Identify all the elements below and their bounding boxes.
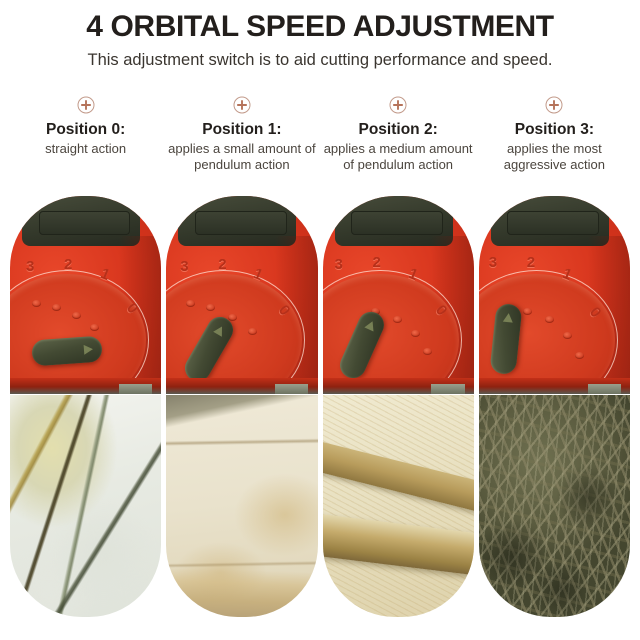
dial-dimple bbox=[423, 348, 432, 355]
jigsaw-body: 3 2 1 0 bbox=[479, 196, 630, 394]
dial-dimple bbox=[575, 352, 584, 359]
plus-circle-icon bbox=[233, 96, 251, 114]
dial-dimple bbox=[52, 304, 61, 311]
plus-circle-icon bbox=[77, 96, 95, 114]
photo-column-3: 3 2 1 0 bbox=[479, 196, 630, 617]
tool-photo-position-1: 3 2 1 0 bbox=[166, 196, 317, 394]
tool-photo-position-2: 3 2 1 0 bbox=[323, 196, 474, 394]
material-photo-position-2 bbox=[323, 395, 474, 617]
page-title: 4 ORBITAL SPEED ADJUSTMENT bbox=[0, 8, 640, 46]
dial-dimple bbox=[90, 324, 99, 331]
dial-dimple bbox=[32, 300, 41, 307]
dial-dimple bbox=[393, 316, 402, 323]
dial-dimple bbox=[411, 330, 420, 337]
dial-numeral-2: 2 bbox=[218, 256, 226, 273]
material-photo-position-0 bbox=[10, 395, 161, 617]
photo-column-2: 3 2 1 0 bbox=[323, 196, 474, 617]
position-column-3: Position 3: applies the most aggressive … bbox=[479, 96, 630, 173]
cream-board-panel-image bbox=[166, 395, 317, 617]
curved-offcut-pieces-image bbox=[10, 395, 161, 617]
photo-column-0: 3 2 1 0 bbox=[10, 196, 161, 617]
material-photo-position-1 bbox=[166, 395, 317, 617]
dial-numeral-2: 2 bbox=[527, 254, 535, 271]
dial-numeral-3: 3 bbox=[180, 258, 188, 275]
position-title: Position 1: bbox=[202, 120, 281, 139]
dial-dimple bbox=[545, 316, 554, 323]
position-description: applies a small amount of pendulum actio… bbox=[166, 141, 317, 173]
position-description: straight action bbox=[45, 141, 126, 157]
jigsaw-baseplate bbox=[10, 378, 161, 394]
jigsaw-baseplate bbox=[323, 378, 474, 394]
dial-numeral-3: 3 bbox=[26, 258, 34, 275]
position-label-row: Position 0: straight action Position 1: … bbox=[10, 96, 630, 173]
page-subtitle: This adjustment switch is to aid cutting… bbox=[0, 48, 640, 72]
dial-dimple bbox=[563, 332, 572, 339]
dial-numeral-2: 2 bbox=[373, 254, 381, 271]
jigsaw-baseplate bbox=[166, 378, 317, 394]
position-title: Position 3: bbox=[515, 120, 594, 139]
position-description: applies the most aggressive action bbox=[479, 141, 630, 173]
jigsaw-body: 3 2 1 0 bbox=[166, 196, 317, 394]
header: 4 ORBITAL SPEED ADJUSTMENT This adjustme… bbox=[0, 0, 640, 72]
position-title: Position 2: bbox=[359, 120, 438, 139]
jigsaw-baseplate bbox=[479, 378, 630, 394]
position-column-2: Position 2: applies a medium amount of p… bbox=[323, 96, 474, 173]
dial-dimple bbox=[523, 308, 532, 315]
pile-of-branches-image bbox=[479, 395, 630, 617]
dial-numeral-3: 3 bbox=[335, 256, 343, 273]
tool-photo-position-0: 3 2 1 0 bbox=[10, 196, 161, 394]
dial-numeral-2: 2 bbox=[64, 256, 72, 273]
dial-numeral-3: 3 bbox=[489, 254, 497, 271]
pine-lumber-boards-image bbox=[323, 395, 474, 617]
position-column-0: Position 0: straight action bbox=[10, 96, 161, 173]
jigsaw-body: 3 2 1 0 bbox=[10, 196, 161, 394]
position-title: Position 0: bbox=[46, 120, 125, 139]
jigsaw-body: 3 2 1 0 bbox=[323, 196, 474, 394]
material-photo-position-3 bbox=[479, 395, 630, 617]
position-column-1: Position 1: applies a small amount of pe… bbox=[166, 96, 317, 173]
orbital-speed-infographic: 4 ORBITAL SPEED ADJUSTMENT This adjustme… bbox=[0, 0, 640, 640]
plus-circle-icon bbox=[389, 96, 407, 114]
tool-photo-position-3: 3 2 1 0 bbox=[479, 196, 630, 394]
dial-dimple bbox=[72, 312, 81, 319]
photo-column-1: 3 2 1 0 bbox=[166, 196, 317, 617]
orbital-selector-lever[interactable] bbox=[31, 336, 103, 367]
plus-circle-icon bbox=[545, 96, 563, 114]
position-description: applies a medium amount of pendulum acti… bbox=[323, 141, 474, 173]
photo-row: 3 2 1 0 bbox=[10, 196, 630, 617]
